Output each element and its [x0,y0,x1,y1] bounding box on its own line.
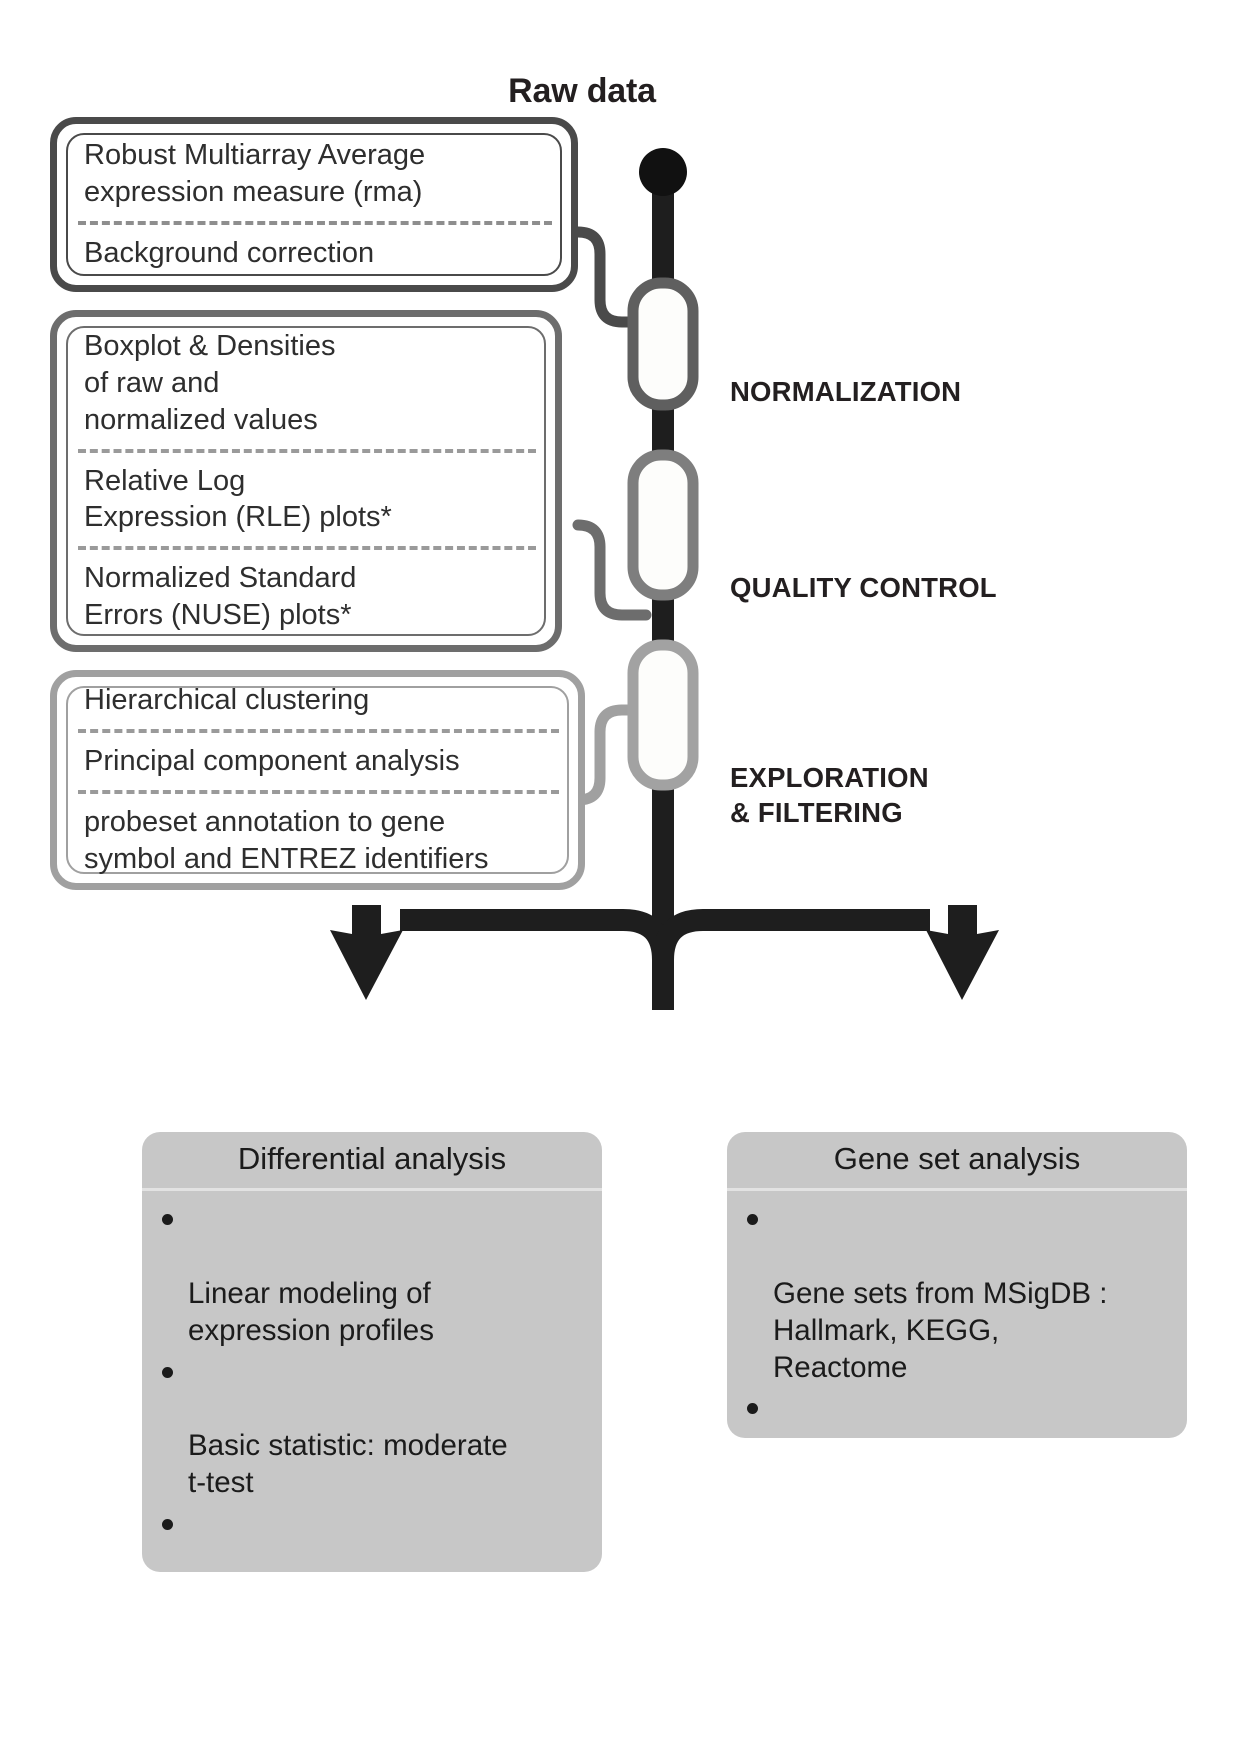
method-box-exploration-filtering: Hierarchical clustering Principal compon… [50,670,585,890]
stage-label-normalization: NORMALIZATION [730,374,961,409]
cell-divider [78,546,536,550]
cell-divider [78,221,552,225]
bullet-icon [747,1214,758,1225]
method-cell: Normalized Standard Errors (NUSE) plots* [68,554,544,640]
cell-divider [78,449,536,453]
method-cell: Principal component analysis [68,737,567,786]
list-item: Linear modeling of expression profiles [154,1202,590,1350]
list-item: Basic statistic: moderate t-test [154,1355,590,1503]
panel-title: Gene set analysis [727,1132,1187,1191]
bullet-icon [162,1214,173,1225]
list-item: Multiple testing correstion of p-value u… [154,1507,590,1572]
list-item-label: Basic statistic: moderate t-test [188,1429,508,1499]
method-cell: Background correction [68,229,560,278]
method-cell: Hierarchical clustering [68,676,567,725]
panel-differential-analysis: Differential analysis Linear modeling of… [142,1132,602,1572]
method-cell: Relative Log Expression (RLE) plots* [68,457,544,543]
list-item-label: Linear modeling of expression profiles [188,1277,434,1347]
panel-body: Gene sets from MSigDB : Hallmark, KEGG, … [727,1191,1187,1438]
list-item-label: Gene sets from MSigDB : Hallmark, KEGG, … [773,1277,1107,1384]
method-cell: Robust Multiarray Average expression mea… [68,131,560,217]
bullet-icon [747,1403,758,1414]
panel-title: Differential analysis [142,1132,602,1191]
panel-body: Linear modeling of expression profiles B… [142,1191,602,1572]
panel-gene-set-analysis: Gene set analysis Gene sets from MSigDB … [727,1132,1187,1438]
method-box-quality-control: Boxplot & Densities of raw and normalize… [50,310,562,652]
stage-label-exploration-filtering: EXPLORATION & FILTERING [730,760,929,830]
method-cell: Boxplot & Densities of raw and normalize… [68,322,544,444]
list-item: Gene sets from MSigDB : Hallmark, KEGG, … [739,1202,1175,1386]
stage-label-quality-control: QUALITY CONTROL [730,570,997,605]
method-box-normalization: Robust Multiarray Average expression mea… [50,117,578,292]
list-item: Gene set test using competitive method C… [739,1391,1175,1438]
cell-divider [78,729,559,733]
method-cell: probeset annotation to gene symbol and E… [68,798,567,884]
bullet-icon [162,1519,173,1530]
bullet-icon [162,1367,173,1378]
cell-divider [78,790,559,794]
